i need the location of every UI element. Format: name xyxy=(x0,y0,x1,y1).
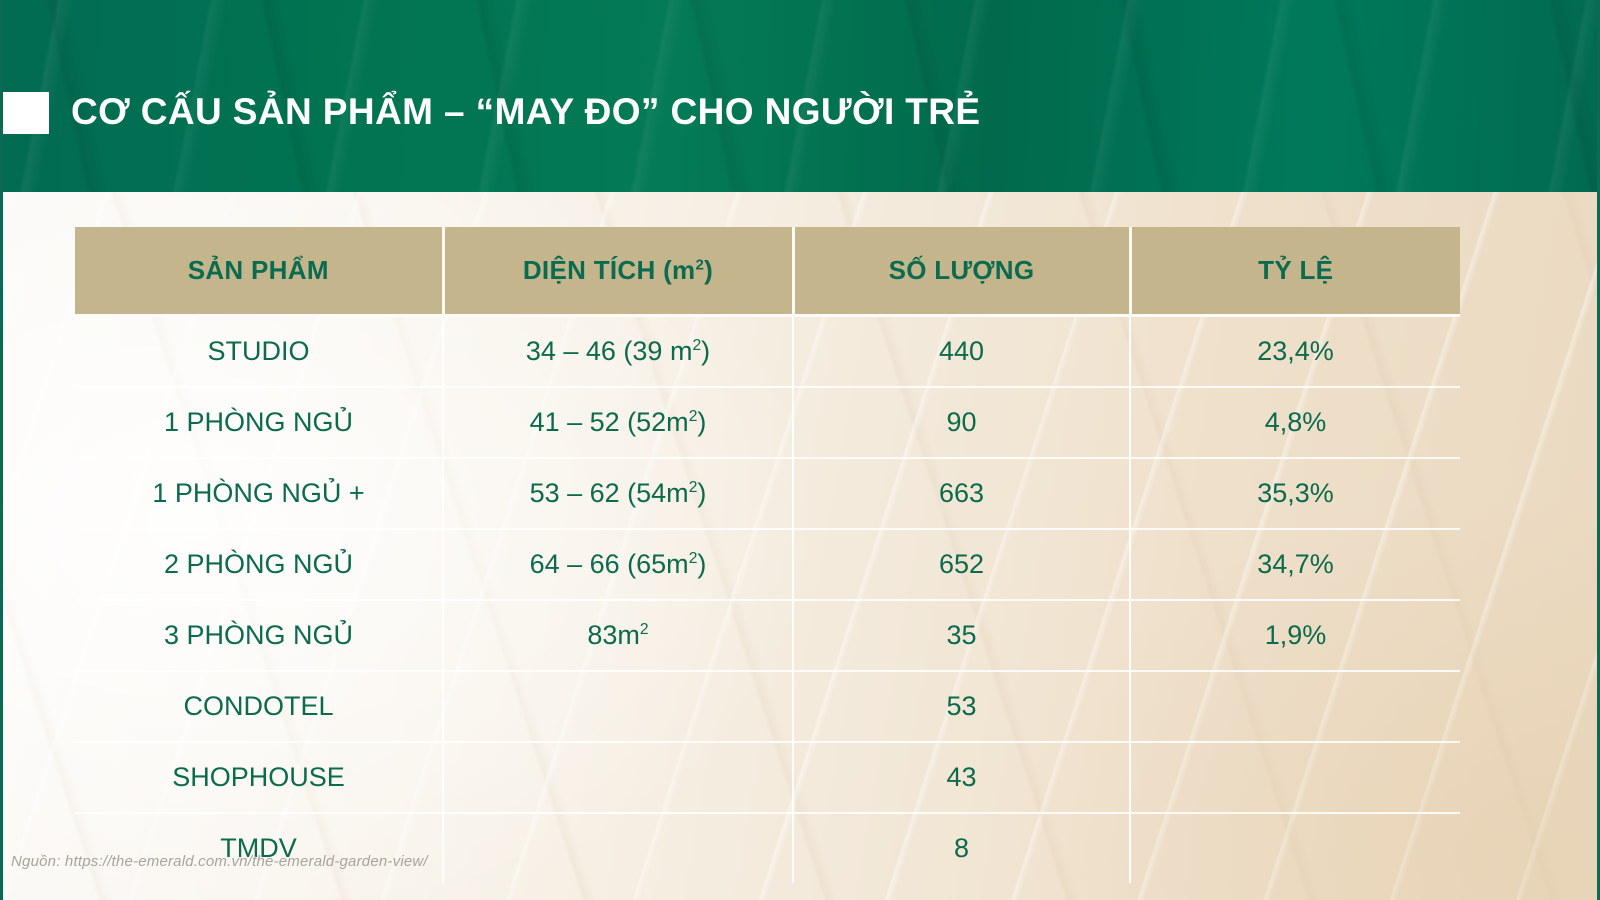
cell-area: 34 – 46 (39 m2) xyxy=(443,316,793,388)
cell-area: 53 – 62 (54m2) xyxy=(443,458,793,529)
cell-ratio xyxy=(1130,742,1460,813)
cell-area-sup: 2 xyxy=(692,337,701,354)
column-header-area-text: DIỆN TÍCH (m xyxy=(523,255,696,285)
cell-area-text: 64 – 66 (65m xyxy=(530,549,689,579)
table-row: STUDIO 34 – 46 (39 m2) 440 23,4% xyxy=(75,316,1460,388)
table-row: 1 PHÒNG NGỦ 41 – 52 (52m2) 90 4,8% xyxy=(75,387,1460,458)
cell-area-sup: 2 xyxy=(640,621,649,638)
cell-area xyxy=(443,742,793,813)
column-header-area-sup: 2 xyxy=(695,256,704,273)
cell-ratio: 23,4% xyxy=(1130,316,1460,388)
cell-ratio xyxy=(1130,813,1460,883)
cell-area-text: 34 – 46 (39 m xyxy=(526,336,693,366)
cell-area-text: 41 – 52 (52m xyxy=(530,407,689,437)
cell-area-text: 83m xyxy=(587,620,640,650)
table-row: 1 PHÒNG NGỦ + 53 – 62 (54m2) 663 35,3% xyxy=(75,458,1460,529)
cell-product: 3 PHÒNG NGỦ xyxy=(75,600,443,671)
cell-area xyxy=(443,813,793,883)
table-header-row: SẢN PHẨM DIỆN TÍCH (m2) SỐ LƯỢNG TỶ LỆ xyxy=(75,227,1460,316)
cell-quantity: 652 xyxy=(793,529,1130,600)
cell-quantity: 440 xyxy=(793,316,1130,388)
cell-quantity: 663 xyxy=(793,458,1130,529)
column-header-product: SẢN PHẨM xyxy=(75,227,443,316)
table-body: STUDIO 34 – 46 (39 m2) 440 23,4% 1 PHÒNG… xyxy=(75,316,1460,884)
product-table: SẢN PHẨM DIỆN TÍCH (m2) SỐ LƯỢNG TỶ LỆ S… xyxy=(75,227,1460,883)
cell-product: 1 PHÒNG NGỦ xyxy=(75,387,443,458)
cell-area-text: 53 – 62 (54m xyxy=(530,478,689,508)
cell-ratio: 34,7% xyxy=(1130,529,1460,600)
cell-product: SHOPHOUSE xyxy=(75,742,443,813)
cell-quantity: 53 xyxy=(793,671,1130,742)
column-header-quantity: SỐ LƯỢNG xyxy=(793,227,1130,316)
column-header-area: DIỆN TÍCH (m2) xyxy=(443,227,793,316)
product-table-container: SẢN PHẨM DIỆN TÍCH (m2) SỐ LƯỢNG TỶ LỆ S… xyxy=(75,227,1460,883)
cell-quantity: 90 xyxy=(793,387,1130,458)
cell-area: 83m2 xyxy=(443,600,793,671)
cell-area-suffix: ) xyxy=(697,407,706,437)
table-row: 3 PHÒNG NGỦ 83m2 35 1,9% xyxy=(75,600,1460,671)
column-header-area-suffix: ) xyxy=(704,255,713,285)
cell-ratio: 4,8% xyxy=(1130,387,1460,458)
column-header-ratio: TỶ LỆ xyxy=(1130,227,1460,316)
cell-area: 64 – 66 (65m2) xyxy=(443,529,793,600)
table-row: 2 PHÒNG NGỦ 64 – 66 (65m2) 652 34,7% xyxy=(75,529,1460,600)
cell-area-suffix: ) xyxy=(701,336,710,366)
page-title: CƠ CẤU SẢN PHẨM – “MAY ĐO” CHO NGƯỜI TRẺ xyxy=(71,88,981,136)
source-note: Nguồn: https://the-emerald.com.vn/the-em… xyxy=(11,853,428,870)
title-accent-marker xyxy=(3,92,49,134)
cell-ratio xyxy=(1130,671,1460,742)
title-band: CƠ CẤU SẢN PHẨM – “MAY ĐO” CHO NGƯỜI TRẺ xyxy=(3,0,1600,192)
cell-area xyxy=(443,671,793,742)
cell-quantity: 43 xyxy=(793,742,1130,813)
table-row: TMDV 8 xyxy=(75,813,1460,883)
cell-product: 2 PHÒNG NGỦ xyxy=(75,529,443,600)
cell-product: TMDV xyxy=(75,813,443,883)
cell-area-suffix: ) xyxy=(697,549,706,579)
cell-product: CONDOTEL xyxy=(75,671,443,742)
cell-ratio: 35,3% xyxy=(1130,458,1460,529)
cell-area-suffix: ) xyxy=(697,478,706,508)
cell-quantity: 35 xyxy=(793,600,1130,671)
cell-product: STUDIO xyxy=(75,316,443,388)
slide-root: CƠ CẤU SẢN PHẨM – “MAY ĐO” CHO NGƯỜI TRẺ… xyxy=(0,0,1600,900)
table-row: SHOPHOUSE 43 xyxy=(75,742,1460,813)
table-header: SẢN PHẨM DIỆN TÍCH (m2) SỐ LƯỢNG TỶ LỆ xyxy=(75,227,1460,316)
cell-ratio: 1,9% xyxy=(1130,600,1460,671)
table-row: CONDOTEL 53 xyxy=(75,671,1460,742)
cell-quantity: 8 xyxy=(793,813,1130,883)
cell-product: 1 PHÒNG NGỦ + xyxy=(75,458,443,529)
cell-area: 41 – 52 (52m2) xyxy=(443,387,793,458)
